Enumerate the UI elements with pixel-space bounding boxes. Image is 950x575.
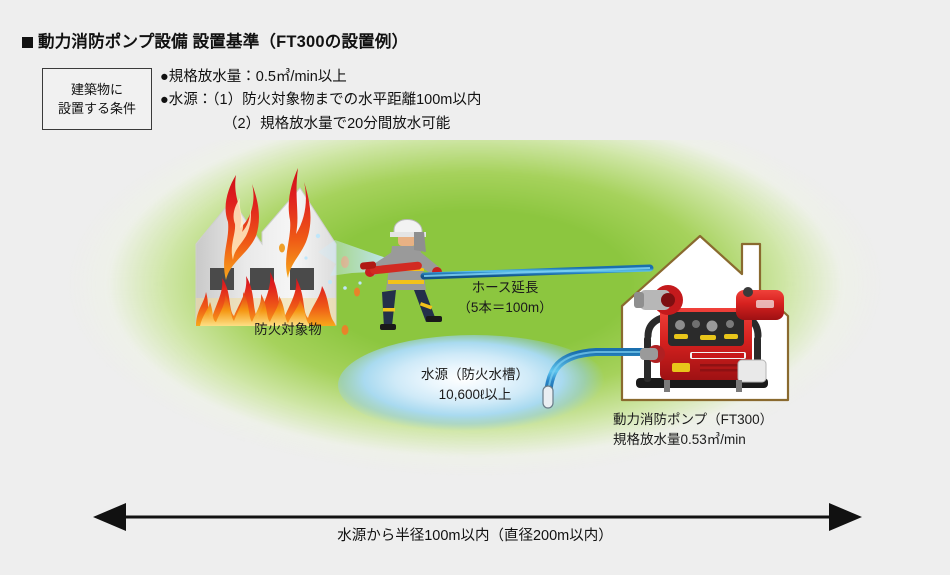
scene-artwork	[0, 140, 950, 495]
condition-list: ●規格放水量：0.5㎥/min以上 ●水源：（1）防火対象物までの水平距離100…	[160, 66, 481, 136]
condition-item-watersource-sub: （2）規格放水量で20分間放水可能	[160, 113, 481, 136]
factory-window	[290, 268, 314, 290]
factory-window	[210, 268, 234, 290]
label-hose-line1: ホース延長	[440, 278, 570, 298]
condition-box: 建築物に 設置する条件	[42, 68, 152, 130]
label-fire-target: 防火対象物	[228, 320, 348, 340]
condition-item-discharge: ●規格放水量：0.5㎥/min以上	[160, 66, 481, 89]
label-water-line1: 水源（防火水槽）	[400, 365, 550, 385]
illustration-scene: 防火対象物 ホース延長 （5本＝100m） 水源（防火水槽） 10,600ℓ以上…	[0, 140, 950, 495]
ember-icon	[279, 244, 285, 253]
condition-box-line1: 建築物に	[71, 80, 123, 100]
condition-box-line2: 設置する条件	[58, 99, 136, 119]
caption-range: 水源から半径100m以内（直径200m以内）	[0, 524, 950, 545]
label-hose-line2: （5本＝100m）	[440, 298, 570, 318]
condition-item-watersource: ●水源：（1）防火対象物までの水平距離100m以内	[160, 89, 481, 112]
filled-square-icon	[22, 37, 33, 48]
diagram-root: 動力消防ポンプ設備 設置基準（FT300の設置例） 建築物に 設置する条件 ●規…	[0, 0, 950, 575]
page-title-text: 動力消防ポンプ設備 設置基準（FT300の設置例）	[38, 33, 408, 51]
caption-fire-pump: 動力消防ポンプ（FT300） 規格放水量0.53㎥/min	[613, 410, 773, 451]
label-water-line2: 10,600ℓ以上	[400, 385, 550, 405]
page-title: 動力消防ポンプ設備 設置基準（FT300の設置例）	[22, 28, 408, 52]
label-hose-extension: ホース延長 （5本＝100m）	[440, 278, 570, 317]
label-water-source: 水源（防火水槽） 10,600ℓ以上	[400, 365, 550, 404]
ember-icon	[354, 288, 360, 297]
caption-pump-line2: 規格放水量0.53㎥/min	[613, 430, 773, 450]
caption-pump-line1: 動力消防ポンプ（FT300）	[613, 410, 773, 430]
